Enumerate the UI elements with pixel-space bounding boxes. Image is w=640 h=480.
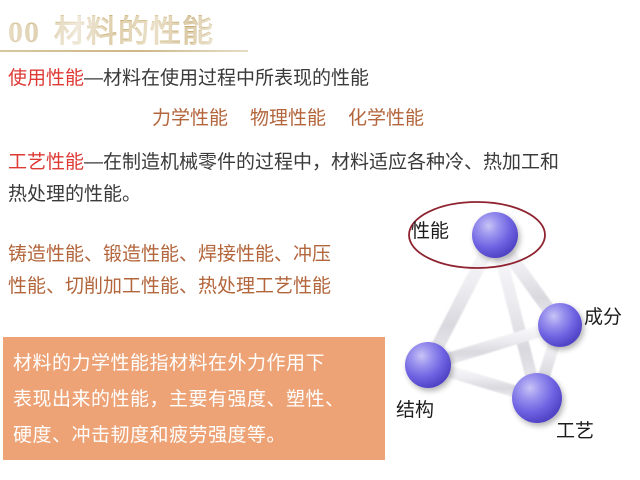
callout-line-1: 材料的力学性能指材料在外力作用下 [13, 346, 375, 382]
title-label: 材料的性能 [54, 14, 214, 49]
usage-performance-definition: 使用性能—材料在使用过程中所表现的性能 [8, 66, 369, 92]
subtype-physical: 物理性能 [250, 108, 326, 129]
title-underline-divider [0, 50, 248, 52]
node-jiegou-sphere[interactable] [405, 342, 451, 388]
subtype-mechanical: 力学性能 [152, 108, 228, 129]
tetrahedron-diagram: 性能 成分 结构 工艺 [385, 190, 640, 455]
process-performance-subtypes-line2: 性能、切削加工性能、热处理工艺性能 [8, 274, 331, 300]
title-number: 00 [8, 16, 40, 49]
process-performance-definition-line2: 热处理的性能。 [8, 182, 141, 208]
process-performance-keyword: 工艺性能 [8, 152, 84, 173]
slide-canvas: 00材料的性能 使用性能—材料在使用过程中所表现的性能 力学性能物理性能化学性能… [0, 0, 640, 480]
tetrahedron-nodes [405, 212, 582, 423]
node-gongyi-sphere[interactable] [512, 373, 562, 423]
process-performance-text-1: —在制造机械零件的过程中，材料适应各种冷、热加工和 [84, 152, 559, 173]
process-performance-definition-line1: 工艺性能—在制造机械零件的过程中，材料适应各种冷、热加工和 [8, 150, 559, 176]
node-xingneng-sphere[interactable] [472, 212, 518, 258]
usage-performance-subtypes: 力学性能物理性能化学性能 [152, 106, 424, 132]
callout-line-3: 硬度、冲击韧度和疲劳强度等。 [13, 418, 375, 454]
callout-line-2: 表现出来的性能，主要有强度、塑性、 [13, 382, 375, 418]
node-label-chengfen: 成分 [584, 302, 622, 329]
page-title: 00材料的性能 [8, 6, 214, 51]
subtype-chemical: 化学性能 [348, 108, 424, 129]
node-label-gongyi: 工艺 [556, 416, 594, 443]
mechanical-properties-callout-box: 材料的力学性能指材料在外力作用下 表现出来的性能，主要有强度、塑性、 硬度、冲击… [3, 337, 385, 460]
process-performance-subtypes-line1: 铸造性能、锻造性能、焊接性能、冲压 [8, 242, 331, 268]
node-label-xingneng: 性能 [411, 216, 449, 243]
node-label-jiegou: 结构 [396, 395, 434, 422]
node-chengfen-sphere[interactable] [538, 303, 582, 347]
usage-performance-keyword: 使用性能 [8, 68, 84, 89]
slide-title-block: 00材料的性能 [0, 6, 300, 48]
usage-performance-text: —材料在使用过程中所表现的性能 [84, 68, 369, 89]
